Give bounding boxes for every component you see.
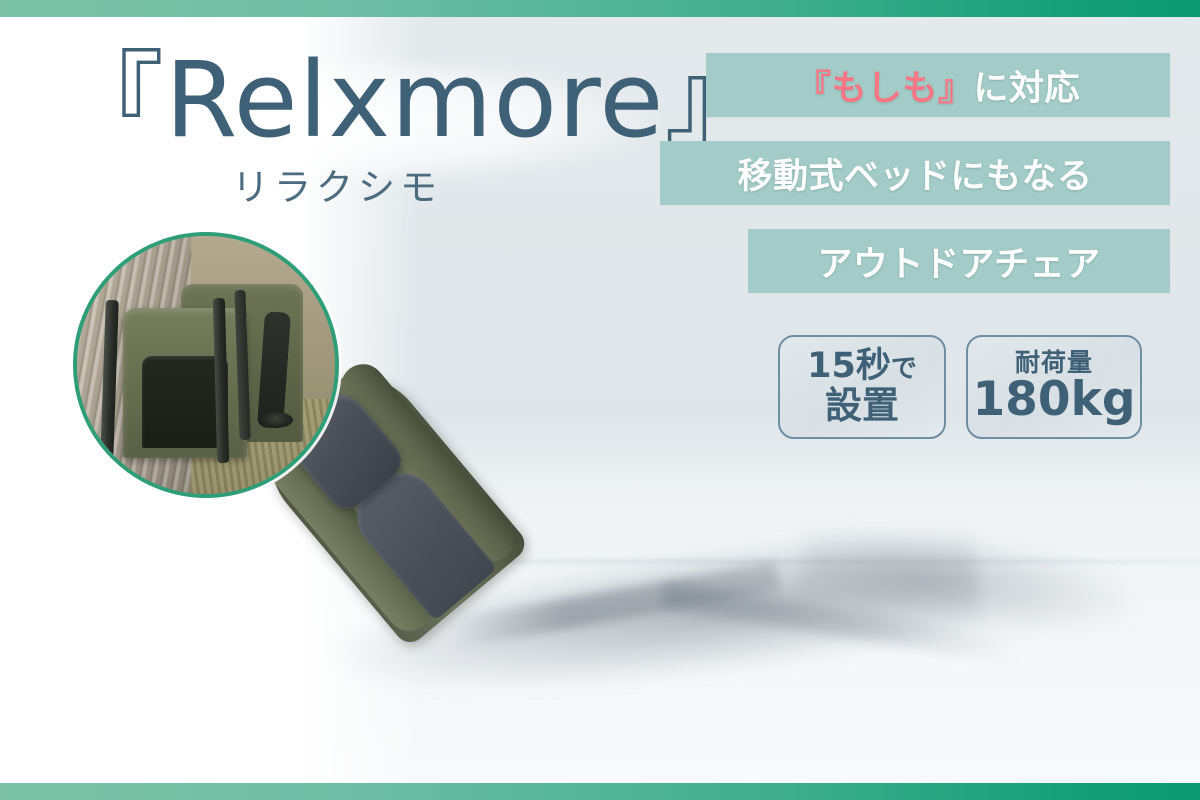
page-title: 『Relxmore』: [60, 46, 660, 155]
spec-box-load-capacity: 耐荷量 180kg: [966, 335, 1142, 439]
top-green-bar: [0, 0, 1200, 17]
feature-banner-emergency: 『もしも』に対応: [706, 53, 1170, 117]
brand-subtitle: リラクシモ: [232, 157, 660, 211]
banner-text-1: 『もしも』に対応: [796, 60, 1080, 111]
spec-capacity-value: 180kg: [972, 375, 1135, 424]
spec-setup-line1: 15秒で: [807, 348, 917, 385]
spec-setup-line2: 設置: [825, 387, 899, 426]
folded-chair-inset-photo: [73, 232, 339, 498]
feature-banner-bed: 移動式ベッドにもなる: [660, 141, 1170, 205]
inset-foot: [259, 412, 293, 428]
brand-title-block: 『Relxmore』 リラクシモ: [60, 46, 660, 211]
banner-text-1-rest: に対応: [974, 69, 1081, 109]
banner-text-3: アウトドアチェア: [817, 236, 1100, 287]
banner-text-2: 移動式ベッドにもなる: [737, 148, 1092, 199]
spec-setup-seconds: 15秒: [807, 346, 891, 386]
banner-text-1-highlight: 『もしも』: [796, 69, 974, 109]
spec-box-setup-time: 15秒で 設置: [778, 335, 946, 439]
promo-poster: 『Relxmore』 リラクシモ 『もしも』に対応 移動式ベッドにもなる アウト…: [0, 0, 1200, 800]
spec-setup-particle: で: [891, 354, 917, 384]
feature-banner-outdoor-chair: アウトドアチェア: [748, 229, 1170, 293]
